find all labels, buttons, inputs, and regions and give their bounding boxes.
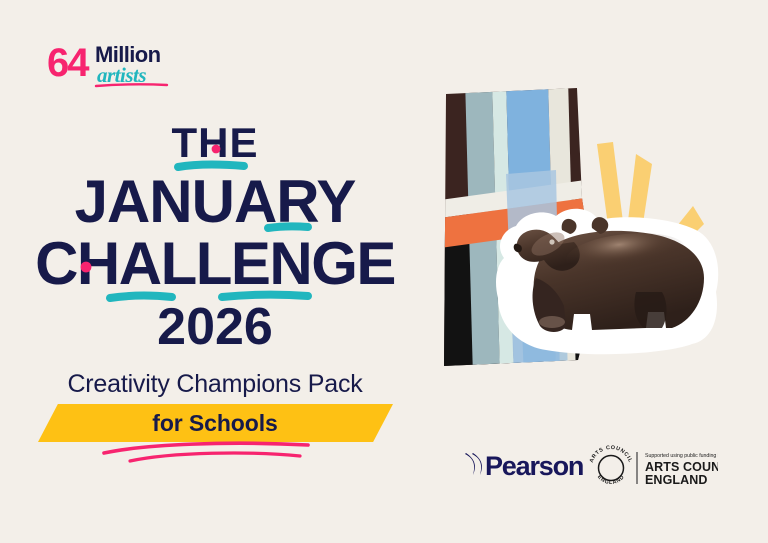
january-challenge-poster: 64 Million artists THE JANUARY CHALLENGE… [0, 0, 768, 543]
title-line-1: THE [172, 119, 259, 166]
title-line-2: JANUARY [75, 168, 357, 235]
subtitle-banner: for Schools [0, 404, 430, 442]
title-accent-underline-challenge-right [222, 295, 308, 297]
ace-name-line-2: ENGLAND [645, 473, 708, 487]
bear-rear-leg-shadow [634, 292, 666, 328]
bear-figurine [496, 209, 718, 355]
title-accent-dot-challenge [81, 262, 92, 273]
logo-number-text: 64 [47, 41, 90, 85]
ace-graphic: ARTS COUNCIL ENGLAND Supported using pub… [588, 443, 718, 491]
page-title: THE JANUARY CHALLENGE 2026 [0, 104, 430, 354]
pearson-logo: Pearson [463, 448, 587, 482]
title-accent-dot-the [212, 145, 221, 154]
logo-graphic: 64 Million artists [47, 36, 217, 94]
bear-eye [549, 239, 554, 244]
artwork-collage [440, 78, 740, 408]
subtitle-line-2: for Schools [0, 404, 430, 442]
ace-seal-bottom-text: ENGLAND [596, 474, 626, 486]
ace-seal-top-text: ARTS COUNCIL [589, 445, 633, 464]
title-accent-underline-challenge-left [110, 296, 172, 298]
title-accent-underline-january [268, 226, 308, 228]
ace-strapline: Supported using public funding by [645, 453, 718, 459]
scribble-stroke-2 [130, 453, 300, 461]
subtitle-line-1: Creativity Champions Pack [0, 370, 430, 399]
pearson-mark [465, 453, 482, 475]
pearson-wordmark: Pearson [485, 451, 583, 481]
title-graphic: THE JANUARY CHALLENGE 2026 [0, 104, 430, 354]
64-million-artists-logo: 64 Million artists [47, 36, 217, 94]
ace-name-line-1: ARTS COUNCIL [645, 460, 718, 474]
title-accent-underline-the [178, 165, 244, 167]
arts-council-england-logo: ARTS COUNCIL ENGLAND Supported using pub… [588, 443, 718, 491]
artwork-graphic [440, 78, 740, 408]
scribble-stroke-1 [104, 443, 308, 453]
title-line-4: 2026 [157, 298, 273, 354]
pink-scribble-underline [100, 440, 315, 472]
bear-gloss-paw [539, 316, 565, 328]
